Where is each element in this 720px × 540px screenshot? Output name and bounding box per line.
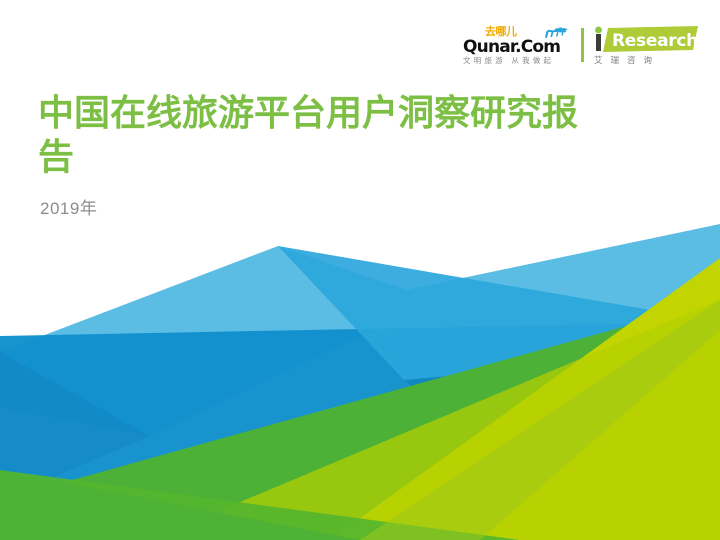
logo-divider [581,28,584,62]
iresearch-wordmark: Research [612,31,698,51]
qunar-cn-bottom: 文明旅游 从我做起 [463,56,571,66]
background-artwork [0,0,720,540]
iresearch-i-dot [595,27,602,34]
slide-root: 去哪儿 Qunar.Com 文明旅游 从我做起 Research 艾瑞咨 [0,0,720,540]
logo-bar: 去哪儿 Qunar.Com 文明旅游 从我做起 Research 艾瑞咨 [463,26,698,68]
page-subtitle: 2019年 [40,194,598,219]
page-title: 中国在线旅游平台用户洞察研究报告 [38,92,598,180]
iresearch-i-stem [596,34,601,51]
title-block: 中国在线旅游平台用户洞察研究报告 2019年 [38,92,598,219]
iresearch-logo[interactable]: Research 艾瑞咨询 [594,26,698,68]
camel-icon [543,24,569,42]
iresearch-cn: 艾瑞咨询 [594,55,698,68]
iresearch-mark: Research [594,26,698,53]
qunar-logo[interactable]: 去哪儿 Qunar.Com 文明旅游 从我做起 [463,26,581,66]
